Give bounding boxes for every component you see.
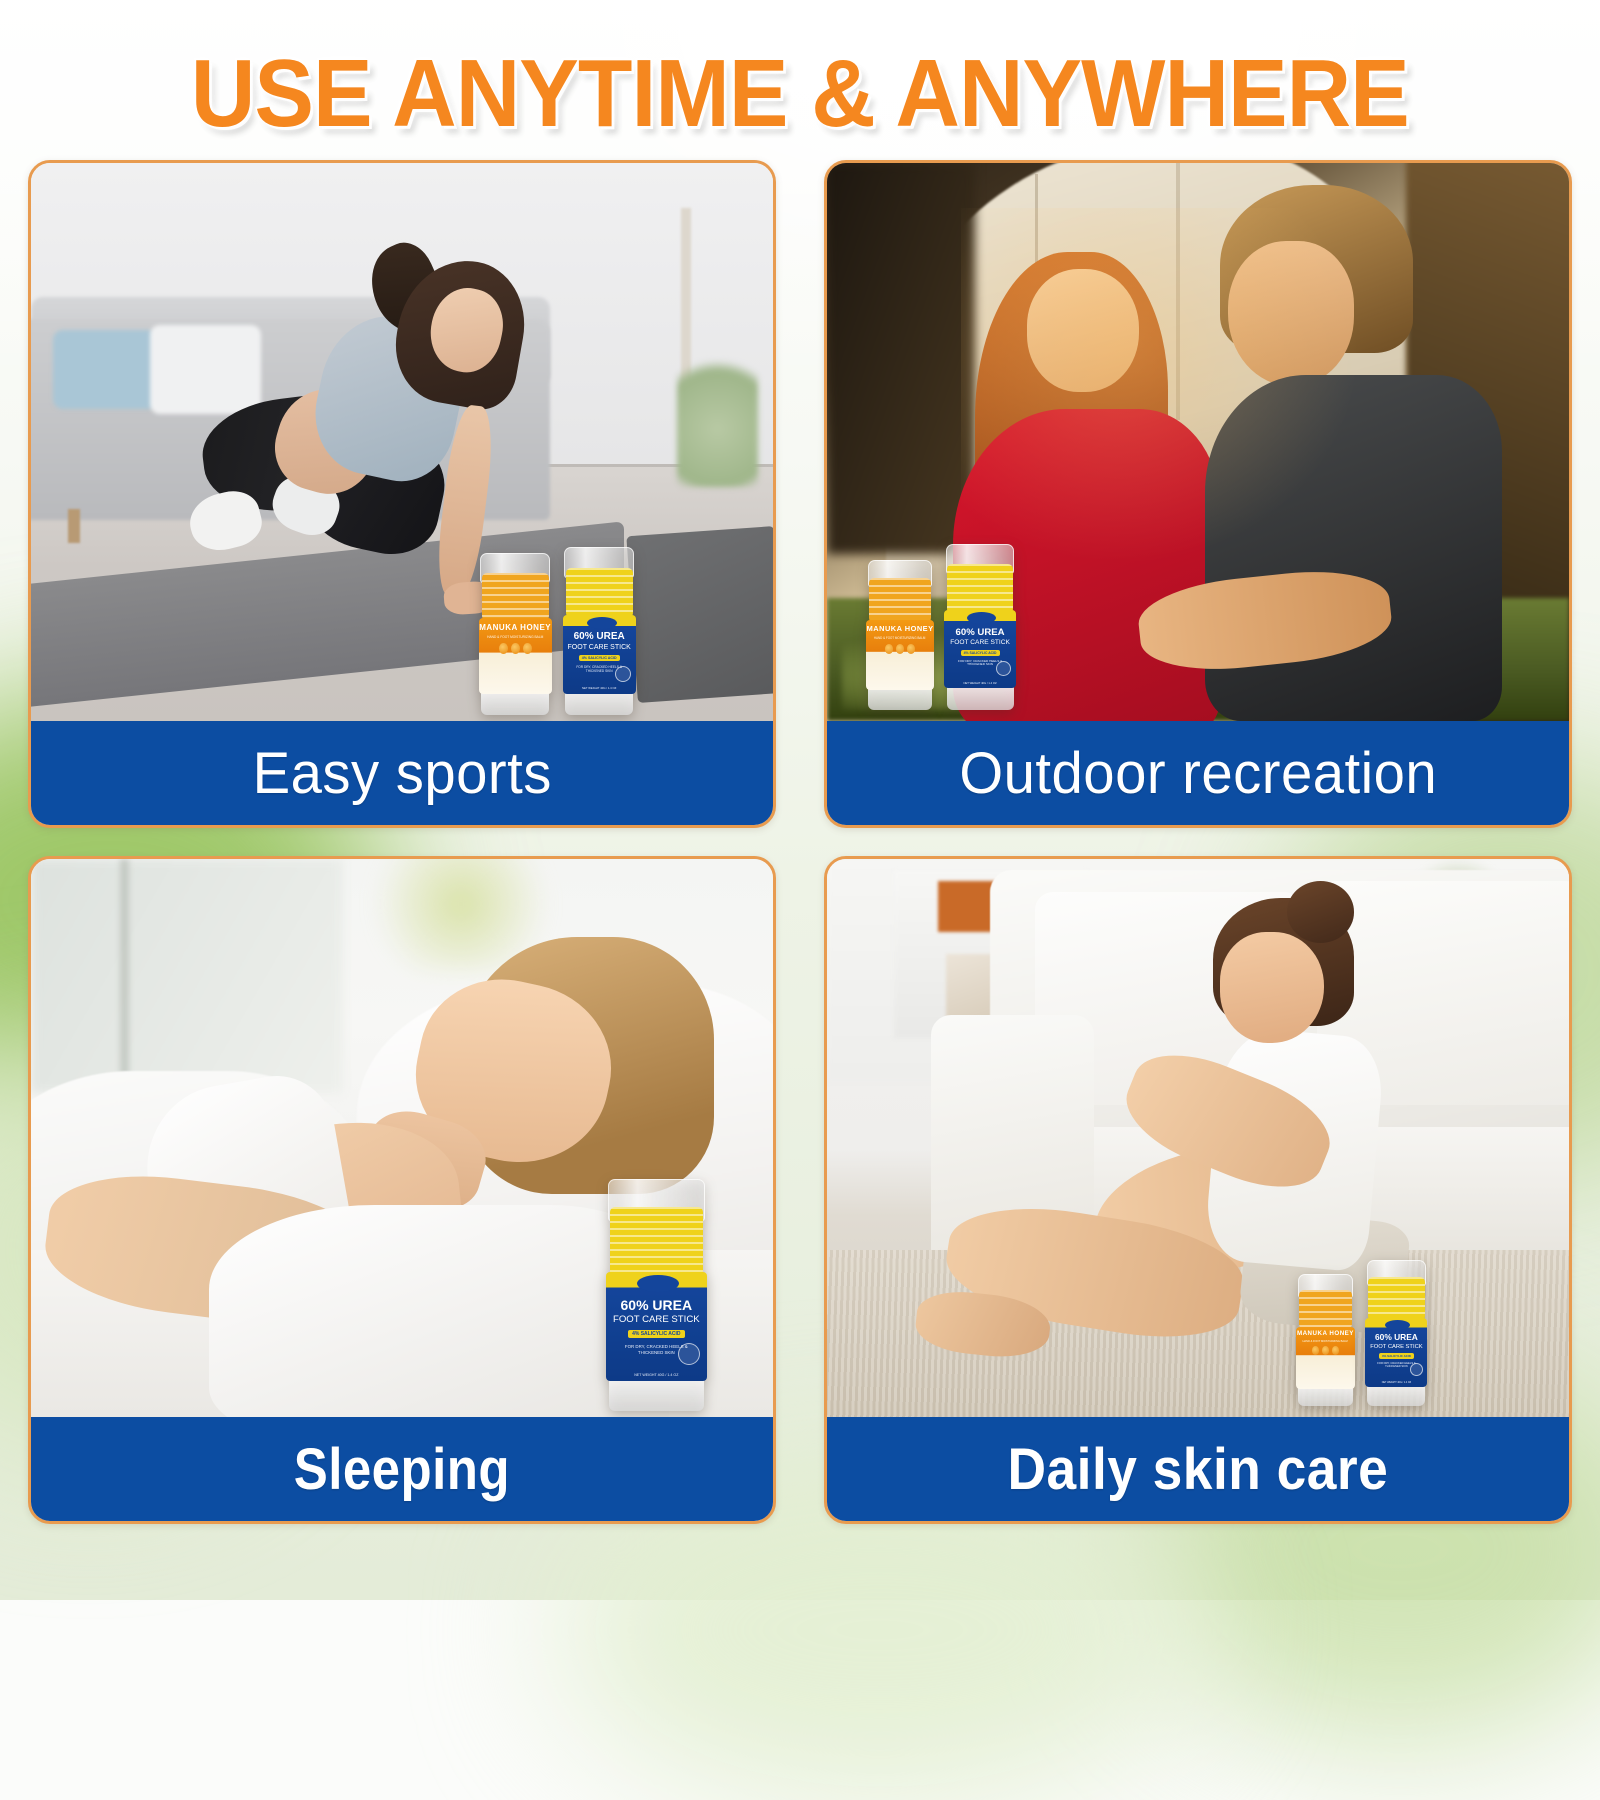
urea-title: 60% UREA xyxy=(574,632,625,642)
manuka-honey-subtitle: HAND & FOOT MOISTURIZING BALM xyxy=(1303,1339,1348,1343)
urea-badge: 4% SALICYLIC ACID xyxy=(579,655,620,661)
scene-illustration-living-room-skincare xyxy=(827,859,1569,1417)
urea-badge: 4% SALICYLIC ACID xyxy=(1379,1353,1414,1359)
urea-net-weight: NET WEIGHT 40G / 1.4 OZ xyxy=(964,682,997,685)
scene-photo-easy-sports: MANUKA HONEY HAND & FOOT MOISTURIZING BA… xyxy=(31,163,773,721)
caption-bar-outdoor-recreation: Outdoor recreation xyxy=(827,721,1569,825)
caption-label-easy-sports: Easy sports xyxy=(252,740,551,807)
product-urea-foot-care-stick: 60% UREA FOOT CARE STICK 4% SALICYLIC AC… xyxy=(560,547,638,715)
product-manuka-honey-stick: MANUKA HONEY HAND & FOOT MOISTURIZING BA… xyxy=(1294,1274,1356,1406)
urea-subtitle: FOOT CARE STICK xyxy=(1370,1344,1422,1350)
caption-bar-sleeping: Sleeping xyxy=(31,1417,773,1521)
page-title: USE ANYTIME & ANYWHERE xyxy=(0,34,1600,154)
urea-net-weight: NET WEIGHT 40G / 1.4 OZ xyxy=(1382,1381,1411,1384)
product-group-outdoor-recreation: MANUKA HONEY HAND & FOOT MOISTURIZING BA… xyxy=(864,544,1018,710)
urea-net-weight: NET WEIGHT 40G / 1.4 OZ xyxy=(582,687,616,690)
scene-photo-daily-skin-care: MANUKA HONEY HAND & FOOT MOISTURIZING BA… xyxy=(827,859,1569,1417)
manuka-honey-name: MANUKA HONEY xyxy=(479,623,551,632)
product-manuka-honey-stick: MANUKA HONEY HAND & FOOT MOISTURIZING BA… xyxy=(864,560,936,710)
use-case-card-sleeping[interactable]: 60% UREA FOOT CARE STICK 4% SALICYLIC AC… xyxy=(28,856,776,1524)
urea-badge: 4% SALICYLIC ACID xyxy=(628,1330,684,1338)
caption-bar-daily-skin-care: Daily skin care xyxy=(827,1417,1569,1521)
use-case-card-daily-skin-care[interactable]: MANUKA HONEY HAND & FOOT MOISTURIZING BA… xyxy=(824,856,1572,1524)
manuka-honey-name: MANUKA HONEY xyxy=(1297,1330,1354,1337)
product-urea-foot-care-stick: 60% UREA FOOT CARE STICK 4% SALICYLIC AC… xyxy=(602,1179,710,1411)
product-group-daily-skin-care: MANUKA HONEY HAND & FOOT MOISTURIZING BA… xyxy=(1294,1260,1429,1406)
urea-net-weight: NET WEIGHT 40G / 1.4 OZ xyxy=(634,1373,678,1377)
use-case-card-easy-sports[interactable]: MANUKA HONEY HAND & FOOT MOISTURIZING BA… xyxy=(28,160,776,828)
caption-label-outdoor-recreation: Outdoor recreation xyxy=(959,740,1437,807)
product-urea-foot-care-stick: 60% UREA FOOT CARE STICK 4% SALICYLIC AC… xyxy=(1363,1260,1429,1406)
manuka-honey-subtitle: HAND & FOOT MOISTURIZING BALM xyxy=(487,635,543,639)
urea-subtitle: FOOT CARE STICK xyxy=(568,644,631,652)
urea-title: 60% UREA xyxy=(621,1298,693,1312)
manuka-honey-subtitle: HAND & FOOT MOISTURIZING BALM xyxy=(874,636,926,640)
manuka-honey-name: MANUKA HONEY xyxy=(867,624,934,633)
scene-photo-outdoor-recreation: MANUKA HONEY HAND & FOOT MOISTURIZING BA… xyxy=(827,163,1569,721)
product-manuka-honey-stick: MANUKA HONEY HAND & FOOT MOISTURIZING BA… xyxy=(476,553,554,715)
use-case-grid: MANUKA HONEY HAND & FOOT MOISTURIZING BA… xyxy=(28,160,1572,1572)
use-case-card-outdoor-recreation[interactable]: MANUKA HONEY HAND & FOOT MOISTURIZING BA… xyxy=(824,160,1572,828)
scene-photo-sleeping: 60% UREA FOOT CARE STICK 4% SALICYLIC AC… xyxy=(31,859,773,1417)
caption-bar-easy-sports: Easy sports xyxy=(31,721,773,825)
urea-subtitle: FOOT CARE STICK xyxy=(950,639,1010,646)
urea-badge: 4% SALICYLIC ACID xyxy=(961,650,1000,656)
page-title-text: USE ANYTIME & ANYWHERE xyxy=(191,39,1409,149)
urea-subtitle: FOOT CARE STICK xyxy=(613,1315,700,1326)
product-group-easy-sports: MANUKA HONEY HAND & FOOT MOISTURIZING BA… xyxy=(476,547,638,715)
scene-illustration-living-room-workout xyxy=(31,163,773,721)
product-urea-foot-care-stick: 60% UREA FOOT CARE STICK 4% SALICYLIC AC… xyxy=(942,544,1018,710)
caption-label-sleeping: Sleeping xyxy=(294,1436,510,1503)
caption-label-daily-skin-care: Daily skin care xyxy=(1008,1436,1389,1503)
urea-title: 60% UREA xyxy=(956,628,1005,638)
product-group-sleeping: 60% UREA FOOT CARE STICK 4% SALICYLIC AC… xyxy=(602,1179,710,1411)
urea-title: 60% UREA xyxy=(1375,1333,1418,1341)
